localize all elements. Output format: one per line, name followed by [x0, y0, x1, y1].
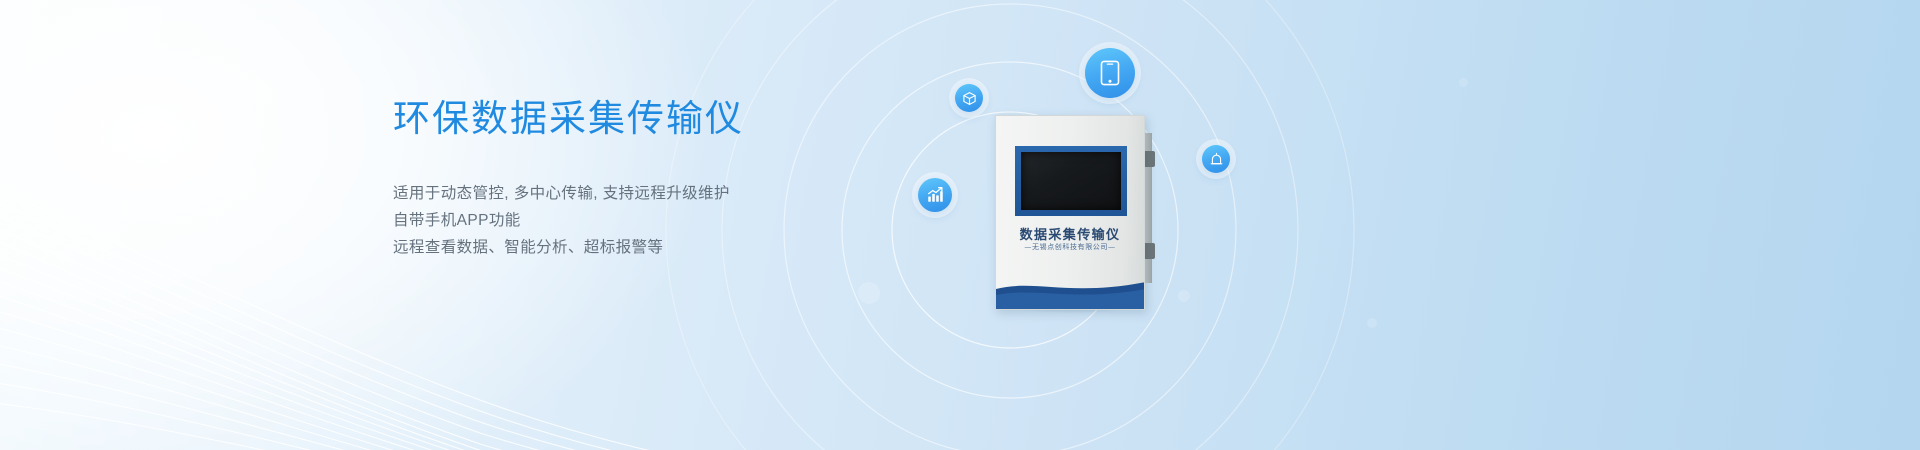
- device-screen-bezel: [1015, 146, 1127, 216]
- description-line-1: 适用于动态管控, 多中心传输, 支持远程升级维护: [393, 180, 913, 207]
- device-enclosure: 数据采集传输仪 —无锡点创科技有限公司—: [995, 115, 1145, 310]
- device-connector-bottom: [1145, 243, 1155, 259]
- bokeh-dot: [1367, 318, 1377, 328]
- bokeh-dot: [1178, 290, 1190, 302]
- device-label: 数据采集传输仪: [996, 224, 1144, 243]
- product-device-image: 数据采集传输仪 —无锡点创科技有限公司—: [995, 115, 1145, 310]
- description-line-2: 自带手机APP功能: [393, 207, 913, 234]
- description-list: 适用于动态管控, 多中心传输, 支持远程升级维护 自带手机APP功能 远程查看数…: [393, 180, 913, 261]
- phone-icon[interactable]: [1085, 48, 1135, 98]
- banner-text-block: 环保数据采集传输仪 适用于动态管控, 多中心传输, 支持远程升级维护 自带手机A…: [393, 96, 913, 261]
- description-line-3: 远程查看数据、智能分析、超标报警等: [393, 234, 913, 261]
- page-title: 环保数据采集传输仪: [393, 96, 913, 142]
- promo-banner: 环保数据采集传输仪 适用于动态管控, 多中心传输, 支持远程升级维护 自带手机A…: [0, 0, 1920, 450]
- device-company-name: —无锡点创科技有限公司—: [996, 242, 1144, 252]
- bokeh-dot: [1459, 78, 1468, 87]
- device-screen: [1021, 152, 1121, 210]
- device-connector-top: [1145, 151, 1155, 167]
- cube-icon[interactable]: [955, 84, 983, 112]
- chart-icon[interactable]: [918, 178, 952, 212]
- bokeh-dot: [858, 282, 880, 304]
- device-footer-graphic: [996, 275, 1144, 309]
- alarm-icon[interactable]: [1202, 145, 1230, 173]
